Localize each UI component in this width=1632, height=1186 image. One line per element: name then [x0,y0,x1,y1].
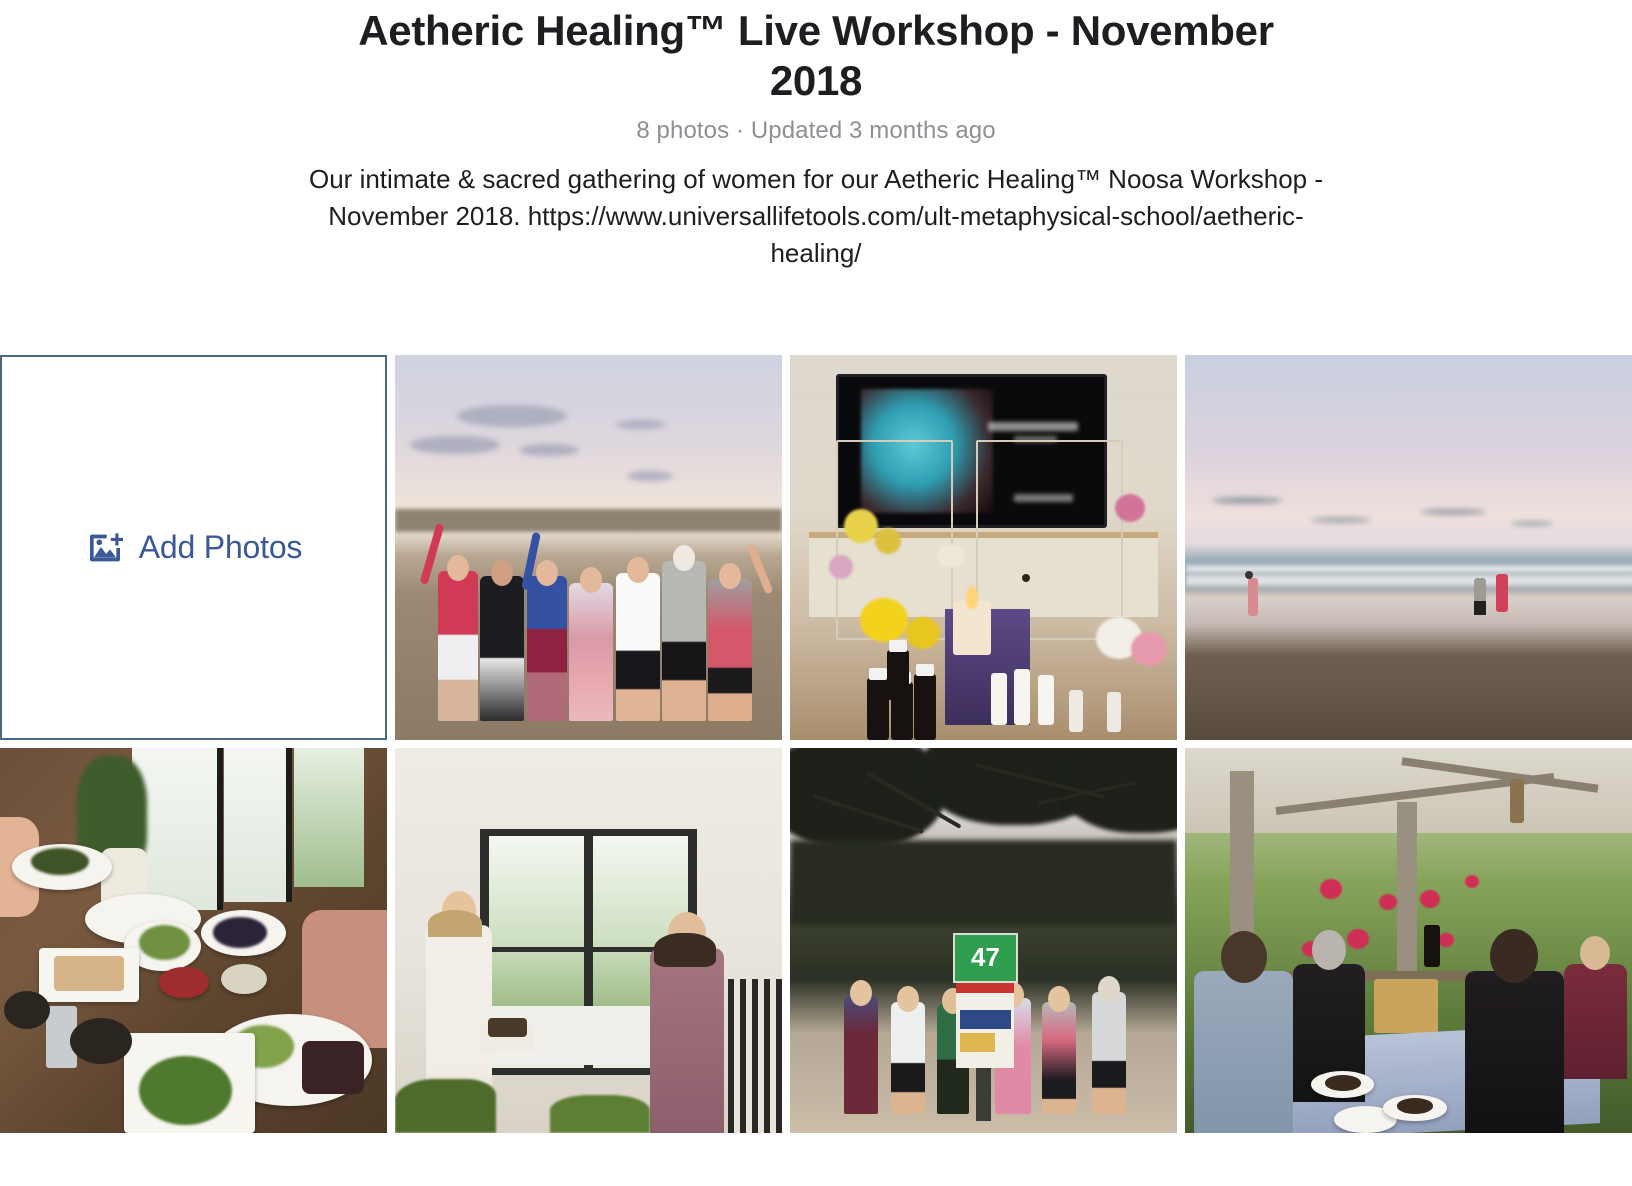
photo-3-image [1185,355,1632,740]
photo-5-image [395,748,782,1133]
album-page: Aetheric Healing™ Live Workshop - Novemb… [0,0,1632,1186]
photo-grid: Add Photos [0,355,1632,1133]
album-header: Aetheric Healing™ Live Workshop - Novemb… [0,0,1632,272]
album-title: Aetheric Healing™ Live Workshop - Novemb… [316,6,1316,105]
photo-tile-3[interactable] [1185,355,1632,740]
photo-2-image [790,355,1177,740]
photo-tile-5[interactable] [395,748,782,1133]
photo-tile-4[interactable] [0,748,387,1133]
add-photos-button[interactable]: Add Photos [0,355,387,740]
album-meta: 8 photos · Updated 3 months ago [0,117,1632,145]
photo-tile-2[interactable] [790,355,1177,740]
photo-tile-7[interactable] [1185,748,1632,1133]
album-description: Our intimate & sacred gathering of women… [301,161,1331,272]
photo-tile-1[interactable] [395,355,782,740]
beach-access-sign: 47 [953,933,1019,983]
photo-1-image [395,355,782,740]
add-photos-label: Add Photos [139,529,302,566]
add-photo-icon [85,528,125,568]
photo-7-image [1185,748,1632,1133]
sign-number: 47 [971,942,1000,973]
photo-tile-6[interactable]: 47 [790,748,1177,1133]
add-photos-inner: Add Photos [85,528,302,568]
photo-4-image [0,748,387,1133]
photo-6-image: 47 [790,748,1177,1133]
